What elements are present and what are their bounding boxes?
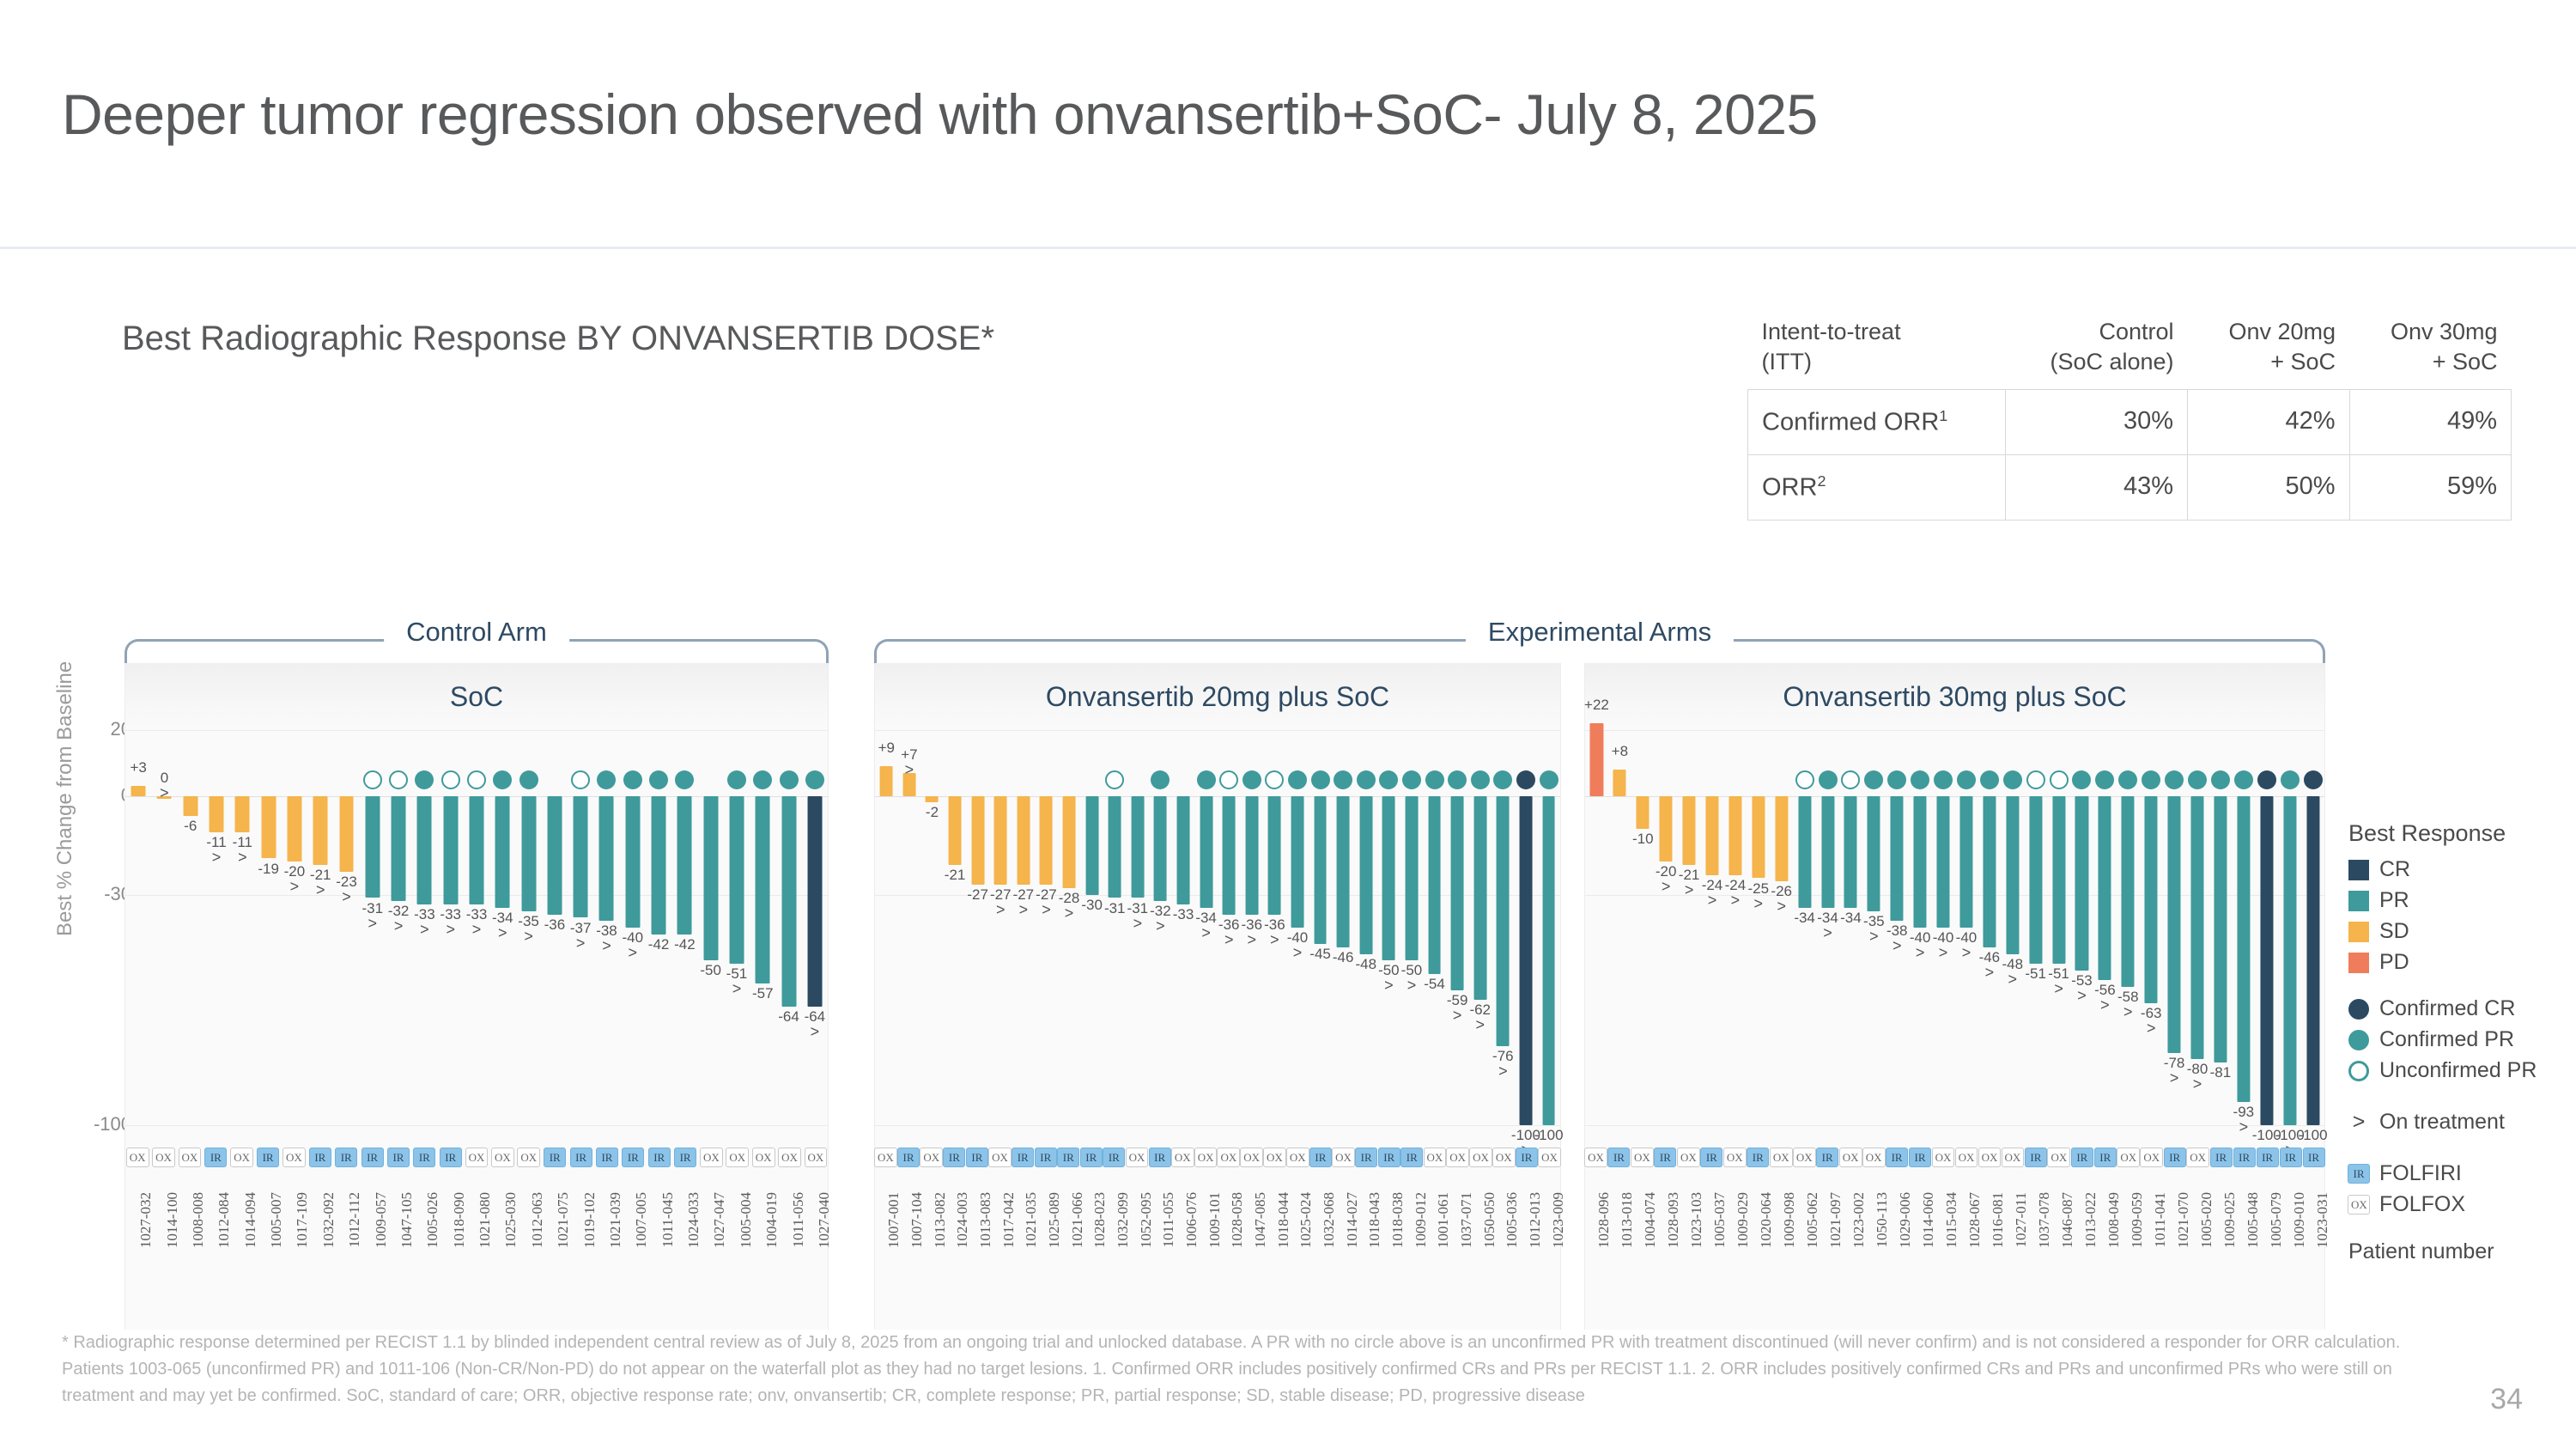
bar-slot[interactable]: -63>	[2140, 730, 2163, 1125]
color-swatch	[2348, 922, 2369, 942]
bar-slot[interactable]: -93>	[2232, 730, 2255, 1125]
bar-value-label: -36>	[1264, 917, 1285, 949]
bar-slot[interactable]: -40>	[1909, 730, 1932, 1125]
bar-slot[interactable]: -33>	[464, 730, 489, 1125]
on-treatment-icon: >	[1702, 892, 1723, 910]
folfox-chip: OX	[805, 1148, 828, 1167]
bar-slot[interactable]: -45	[1309, 730, 1332, 1125]
waterfall-bar[interactable]	[652, 796, 666, 935]
folfiri-chip: IR	[1080, 1148, 1103, 1167]
waterfall-bar[interactable]	[2099, 796, 2111, 981]
waterfall-bar[interactable]	[1154, 796, 1167, 902]
bar-slot[interactable]: -28>	[1058, 730, 1081, 1125]
patient-id-slot: 1023-002	[1839, 1192, 1862, 1321]
bar-slot[interactable]: -59>	[1446, 730, 1469, 1125]
bar-slot[interactable]: -80>	[2186, 730, 2209, 1125]
regimen-slot: IR	[1816, 1148, 1839, 1167]
bar-value-label: -51>	[726, 966, 748, 998]
waterfall-bar[interactable]	[971, 796, 984, 886]
bar-slot[interactable]: -46>	[1978, 730, 2001, 1125]
bar-slot[interactable]: -34>	[1194, 730, 1218, 1125]
bar-slot[interactable]: -31>	[1127, 730, 1150, 1125]
patient-id-slot: 1018-038	[1378, 1192, 1401, 1321]
bar-value-label: -33	[1173, 907, 1194, 922]
folfox-chip: OX	[179, 1148, 202, 1167]
regimen-slot: IR	[2279, 1148, 2302, 1167]
bar-slot[interactable]: -11>	[204, 730, 229, 1125]
bar-slot[interactable]: -50	[698, 730, 724, 1125]
waterfall-bar[interactable]	[1177, 796, 1190, 905]
regimen-slot: OX	[874, 1148, 897, 1167]
bar-slot[interactable]: +22	[1585, 730, 1608, 1125]
waterfall-bar[interactable]	[2145, 796, 2158, 1004]
waterfall-bar[interactable]	[1821, 796, 1834, 908]
waterfall-bar[interactable]	[1775, 796, 1788, 882]
bar-value-label: -34>	[1195, 910, 1217, 942]
waterfall-bar[interactable]	[470, 796, 484, 905]
bar-slot[interactable]: +7>	[898, 730, 921, 1125]
patient-id-slot: 1028-096	[1584, 1192, 1607, 1321]
bar-slot[interactable]: -23>	[333, 730, 359, 1125]
waterfall-bar[interactable]	[1983, 796, 1996, 947]
header-cell-onv30: Onv 30mg + SoC	[2349, 305, 2512, 390]
waterfall-bar[interactable]	[1844, 796, 1857, 908]
waterfall-bar[interactable]	[521, 796, 536, 911]
response-marker-confirmed-pr	[519, 770, 538, 789]
bar-slot[interactable]: -46	[1332, 730, 1355, 1125]
bar-slot[interactable]: -40>	[1932, 730, 1955, 1125]
legend-label: CR	[2379, 857, 2410, 882]
waterfall-bar[interactable]	[1085, 796, 1098, 895]
folfox-chip: OX	[1978, 1148, 2002, 1167]
waterfall-bar[interactable]	[574, 796, 588, 918]
waterfall-bar[interactable]	[1406, 796, 1419, 961]
waterfall-bar[interactable]	[1683, 796, 1696, 866]
regimen-slot: OX	[2047, 1148, 2070, 1167]
bar-slot[interactable]: -58>	[2117, 730, 2140, 1125]
bar-slot[interactable]: -36>	[1241, 730, 1264, 1125]
waterfall-bar[interactable]	[756, 796, 770, 984]
waterfall-bar[interactable]	[1245, 796, 1258, 915]
waterfall-bar[interactable]	[1063, 796, 1076, 888]
bar-slot[interactable]: -50>	[1400, 730, 1424, 1125]
bar-slot[interactable]: -21	[944, 730, 967, 1125]
bar-slot[interactable]: -2	[920, 730, 944, 1125]
bar-slot[interactable]: -21>	[1678, 730, 1701, 1125]
waterfall-bar[interactable]	[1131, 796, 1144, 898]
waterfall-bar[interactable]	[365, 796, 380, 898]
bar-slot[interactable]: -38>	[593, 730, 619, 1125]
bar-slot[interactable]: -33>	[438, 730, 464, 1125]
response-marker-confirmed-pr	[597, 770, 616, 789]
regimen-slot: IR	[1080, 1148, 1103, 1167]
waterfall-bar[interactable]	[1868, 796, 1880, 911]
waterfall-bar[interactable]	[2237, 796, 2250, 1103]
waterfall-bar[interactable]	[1291, 796, 1304, 928]
waterfall-bar[interactable]	[1451, 796, 1464, 990]
waterfall-bar[interactable]	[495, 796, 510, 908]
folfox-chip: OX	[1723, 1148, 1747, 1167]
waterfall-bar[interactable]	[703, 796, 718, 961]
waterfall-bar[interactable]	[1891, 796, 1904, 922]
waterfall-bar[interactable]	[1268, 796, 1281, 915]
bar-slot[interactable]: -24>	[1701, 730, 1724, 1125]
waterfall-bar[interactable]	[235, 796, 250, 832]
bar-slot[interactable]: -40>	[1286, 730, 1309, 1125]
bar-slot[interactable]: -21>	[307, 730, 333, 1125]
waterfall-bar[interactable]	[1959, 796, 1972, 928]
bar-slot[interactable]: -62>	[1468, 730, 1492, 1125]
bar-slot[interactable]: -27>	[1012, 730, 1036, 1125]
bar-slot[interactable]: -27>	[989, 730, 1012, 1125]
table-row: Confirmed ORR1 30% 42% 49%	[1748, 390, 2512, 455]
waterfall-bar[interactable]	[807, 796, 822, 1007]
bar-slot[interactable]: -32>	[1149, 730, 1172, 1125]
bar-slot[interactable]: -81	[2208, 730, 2232, 1125]
bar-slot[interactable]: -56>	[2093, 730, 2117, 1125]
waterfall-bar[interactable]	[949, 796, 962, 866]
marker-swatch	[2348, 999, 2369, 1020]
bar-slot[interactable]: -26>	[1770, 730, 1793, 1125]
waterfall-bar[interactable]	[1497, 796, 1510, 1046]
waterfall-bar[interactable]	[880, 766, 893, 796]
bar-slot[interactable]: -35>	[515, 730, 541, 1125]
waterfall-bar[interactable]	[2122, 796, 2135, 987]
legend-item-unconfirmed-pr: Unconfirmed PR	[2348, 1058, 2563, 1083]
on-treatment-icon: >	[440, 922, 461, 939]
waterfall-bar[interactable]	[1337, 796, 1350, 947]
bar-slot[interactable]: -34	[1839, 730, 1862, 1125]
waterfall-bar[interactable]	[677, 796, 692, 935]
bar-slot[interactable]: -78>	[2163, 730, 2186, 1125]
regimen-slot: IR	[1607, 1148, 1631, 1167]
folfiri-chip: IR	[413, 1148, 435, 1167]
waterfall-bar[interactable]	[1017, 796, 1030, 886]
waterfall-bar[interactable]	[2029, 796, 2042, 965]
folfiri-chip: IR	[2071, 1148, 2093, 1167]
waterfall-bar[interactable]	[1542, 796, 1555, 1125]
legend-label: PD	[2379, 950, 2409, 975]
response-marker-confirmed-pr	[2165, 770, 2184, 789]
on-treatment-icon: >	[2002, 971, 2023, 989]
legend-item-folfox: OXFOLFOX	[2348, 1192, 2563, 1217]
bar-value-label: -64	[778, 1009, 799, 1024]
waterfall-bar[interactable]	[417, 796, 432, 905]
patient-id-slot: 1021-075	[542, 1192, 568, 1321]
bar-slot[interactable]: -64>	[802, 730, 828, 1125]
patient-id-slot: 1005-079	[2256, 1192, 2279, 1321]
waterfall-bar[interactable]	[1314, 796, 1327, 945]
bar-slot[interactable]: -20>	[282, 730, 307, 1125]
regimen-slot: IR	[1654, 1148, 1677, 1167]
waterfall-bar[interactable]	[1473, 796, 1486, 1001]
bar-slot[interactable]: -100	[2255, 730, 2278, 1125]
waterfall-bar[interactable]	[2214, 796, 2227, 1063]
bar-value-label: -20>	[1656, 864, 1677, 896]
waterfall-bar[interactable]	[1798, 796, 1811, 908]
waterfall-bar[interactable]	[131, 786, 146, 796]
response-marker-confirmed-pr	[1379, 770, 1398, 789]
bar-slot[interactable]: -19	[255, 730, 281, 1125]
waterfall-bar[interactable]	[339, 796, 354, 872]
bar-value-label: -46>	[1979, 950, 2001, 982]
waterfall-bar[interactable]	[547, 796, 562, 915]
patient-id-label: 1023-031	[2314, 1192, 2331, 1248]
waterfall-bar[interactable]	[926, 796, 939, 803]
bar-value-label: -30	[1081, 898, 1103, 912]
bar-slot[interactable]: -100>	[1515, 730, 1538, 1125]
bar-slot[interactable]: -36	[542, 730, 568, 1125]
regimen-slot: OX	[1932, 1148, 1955, 1167]
regimen-slot: OX	[281, 1148, 307, 1167]
legend-label: Confirmed CR	[2379, 996, 2515, 1021]
regimen-slot: OX	[1677, 1148, 1700, 1167]
response-marker-confirmed-pr	[1493, 770, 1512, 789]
bar-value-label: -53>	[2071, 973, 2093, 1005]
regimen-slot: IR	[386, 1148, 411, 1167]
patient-id-slot: 1050-113	[1862, 1192, 1886, 1321]
waterfall-bar[interactable]	[1223, 796, 1236, 915]
bar-value-label: -56>	[2094, 983, 2116, 1014]
bar-slot[interactable]: -35>	[1862, 730, 1886, 1125]
arm-group-label-experimental: Experimental Arms	[1466, 617, 1734, 648]
regimen-slot: IR	[2163, 1148, 2186, 1167]
bar-slot[interactable]: 0>	[151, 730, 177, 1125]
response-marker-unconfirmed	[467, 770, 486, 789]
waterfall-bar[interactable]	[1040, 796, 1053, 886]
bar-value-label: -40>	[1933, 930, 1954, 962]
waterfall-bar[interactable]	[1937, 796, 1950, 928]
bar-slot[interactable]: -51	[2024, 730, 2047, 1125]
folfox-chip: OX	[1862, 1148, 1886, 1167]
waterfall-bar[interactable]	[1660, 796, 1673, 862]
bar-slot[interactable]: -33>	[411, 730, 437, 1125]
regimen-slot: OX	[698, 1148, 724, 1167]
waterfall-bar[interactable]	[261, 796, 276, 859]
waterfall-bar[interactable]	[392, 796, 406, 902]
waterfall-bar[interactable]	[1728, 796, 1741, 875]
on-treatment-icon: >	[160, 785, 169, 802]
waterfall-bar[interactable]	[2075, 796, 2088, 971]
waterfall-bar[interactable]	[599, 796, 614, 922]
bar-slot[interactable]: -53>	[2070, 730, 2093, 1125]
bar-slot[interactable]: -34>	[489, 730, 515, 1125]
bar-slot[interactable]: -24>	[1723, 730, 1747, 1125]
color-swatch	[2348, 860, 2369, 880]
panel-title: SoC	[450, 681, 503, 713]
bar-slot[interactable]: -64	[775, 730, 801, 1125]
folfiri-chip: IR	[622, 1148, 644, 1167]
folfox-chip: OX	[1171, 1148, 1194, 1167]
regimen-slot: IR	[2256, 1148, 2279, 1167]
waterfall-bar[interactable]	[287, 796, 301, 862]
bar-slot[interactable]: -31>	[360, 730, 386, 1125]
panel-header: Onvansertib 20mg plus SoC	[875, 663, 1560, 730]
bar-slot[interactable]: -51>	[2047, 730, 2070, 1125]
folfox-chip: OX	[1286, 1148, 1309, 1167]
waterfall-bar[interactable]	[2260, 796, 2273, 1125]
bar-slot[interactable]: -36>	[1263, 730, 1286, 1125]
bar-slot[interactable]: +8	[1608, 730, 1631, 1125]
patient-id-slot: 1007-104	[897, 1192, 920, 1321]
bar-slot[interactable]: -10	[1631, 730, 1655, 1125]
bar-value-label: -38>	[596, 923, 617, 955]
bar-slot[interactable]: -42	[646, 730, 671, 1125]
on-treatment-icon: >	[2141, 1020, 2162, 1038]
bar-slot[interactable]: -36>	[1218, 730, 1241, 1125]
patient-id-slot: 1011-041	[2140, 1192, 2163, 1321]
patient-id-slot: 1020-064	[1747, 1192, 1770, 1321]
waterfall-bar[interactable]	[2190, 796, 2203, 1060]
waterfall-bar[interactable]	[1109, 796, 1121, 898]
waterfall-bar[interactable]	[183, 796, 197, 816]
patient-id-slot: 1028-058	[1218, 1192, 1241, 1321]
waterfall-bar[interactable]	[1200, 796, 1212, 908]
regimen-slot: OX	[1240, 1148, 1263, 1167]
bar-slot[interactable]: -51>	[724, 730, 750, 1125]
on-treatment-icon: >	[233, 849, 252, 867]
patient-id-slot: 1018-090	[438, 1192, 464, 1321]
bar-slot[interactable]: -27	[966, 730, 989, 1125]
folfox-chip: OX	[517, 1148, 540, 1167]
waterfall-bar[interactable]	[625, 796, 640, 928]
bar-slot[interactable]: -40>	[1955, 730, 1978, 1125]
folfox-chip: OX	[1677, 1148, 1700, 1167]
waterfall-bar[interactable]	[1613, 770, 1626, 796]
bar-slot[interactable]: -76>	[1492, 730, 1515, 1125]
bar-slot[interactable]: -32>	[386, 730, 411, 1125]
regimen-chip-wrap: OX	[2348, 1195, 2369, 1215]
waterfall-bar[interactable]	[1637, 796, 1649, 829]
patient-id-slot: 1027-047	[698, 1192, 724, 1321]
folfox-chip: OX	[778, 1148, 801, 1167]
legend-item-cr: CR	[2348, 857, 2563, 882]
waterfall-bar[interactable]	[994, 796, 1007, 886]
bar-slot[interactable]: -27>	[1035, 730, 1058, 1125]
waterfall-bar[interactable]	[2006, 796, 2019, 954]
bar-slot[interactable]: -100>	[2278, 730, 2301, 1125]
waterfall-bar[interactable]	[2052, 796, 2065, 965]
bar-slot[interactable]: -31	[1103, 730, 1127, 1125]
response-marker-unconfirmed	[2026, 770, 2045, 789]
on-treatment-icon: >	[805, 1024, 826, 1041]
bar-slot[interactable]: -42	[671, 730, 697, 1125]
bar-slot[interactable]: -100	[2301, 730, 2324, 1125]
bar-slot[interactable]: -54	[1423, 730, 1446, 1125]
bar-value-label: -27>	[1013, 887, 1035, 919]
bar-value-label: -32>	[388, 904, 410, 935]
waterfall-bar[interactable]	[1914, 796, 1927, 928]
on-treatment-icon: >	[1013, 902, 1035, 919]
bar-slot[interactable]: -57	[750, 730, 775, 1125]
waterfall-bar[interactable]	[1382, 796, 1395, 961]
bar-slot[interactable]: +9	[875, 730, 898, 1125]
patient-id-label: 1023-009	[1550, 1192, 1567, 1248]
bar-slot[interactable]: -25>	[1747, 730, 1770, 1125]
bar-slot[interactable]: -33	[1172, 730, 1195, 1125]
patient-id-slot: 1005-036	[1492, 1192, 1516, 1321]
patient-id-slot: 1008-008	[177, 1192, 203, 1321]
bar-slot[interactable]: -30	[1080, 730, 1103, 1125]
patient-id-slot: 1005-037	[1700, 1192, 1723, 1321]
waterfall-bar[interactable]	[1359, 796, 1372, 954]
waterfall-bar[interactable]	[2168, 796, 2181, 1053]
waterfall-bar[interactable]	[2306, 796, 2319, 1125]
waterfall-bar[interactable]	[443, 796, 458, 905]
bar-slot[interactable]: -48	[1354, 730, 1377, 1125]
bar-slot[interactable]: -48>	[2001, 730, 2024, 1125]
bar-slot[interactable]: -11>	[229, 730, 255, 1125]
folfox-chip: OX	[726, 1148, 749, 1167]
folfiri-chip: IR	[2210, 1148, 2233, 1167]
bar-slot[interactable]: -38>	[1886, 730, 1909, 1125]
waterfall-bar[interactable]	[1590, 723, 1603, 795]
on-treatment-icon: >	[362, 916, 384, 933]
panel-header: SoC	[125, 663, 828, 730]
waterfall-bar[interactable]	[1705, 796, 1718, 875]
bar-slot[interactable]: -40>	[620, 730, 646, 1125]
regimen-slot: IR	[943, 1148, 966, 1167]
response-marker-unconfirmed	[1105, 770, 1124, 789]
waterfall-bar[interactable]	[1519, 796, 1532, 1125]
regimen-slot: IR	[1400, 1148, 1424, 1167]
on-treatment-icon: >	[2071, 988, 2093, 1005]
patient-id-slot: 1005-062	[1793, 1192, 1816, 1321]
page-title: Deeper tumor regression observed with on…	[62, 82, 1818, 147]
legend-item-confirmed-cr: Confirmed CR	[2348, 996, 2563, 1021]
bar-value-label: +7>	[901, 747, 917, 779]
waterfall-bar[interactable]	[1428, 796, 1441, 974]
bar-value-label: +3	[130, 760, 146, 775]
bar-slot[interactable]: -100	[1537, 730, 1560, 1125]
regimen-slot: OX	[1171, 1148, 1194, 1167]
on-treatment-icon: >	[990, 902, 1012, 919]
response-marker-unconfirmed	[363, 770, 382, 789]
regimen-slot: IR	[1355, 1148, 1378, 1167]
patient-id-slot: 1021-066	[1057, 1192, 1080, 1321]
waterfall-bar[interactable]	[2283, 796, 2296, 1125]
response-marker-confirmed-cr	[2304, 770, 2323, 789]
bar-slot[interactable]: -6	[178, 730, 204, 1125]
waterfall-bar[interactable]	[1752, 796, 1765, 879]
bar-slot[interactable]: -50>	[1377, 730, 1400, 1125]
response-marker-confirmed-pr	[1540, 770, 1558, 789]
bar-slot[interactable]: -34	[1793, 730, 1816, 1125]
bar-slot[interactable]: -20>	[1655, 730, 1678, 1125]
patient-id-slot: 1017-109	[281, 1192, 307, 1321]
folfiri-chip: IR	[1309, 1148, 1332, 1167]
folfox-chip: OX	[2002, 1148, 2025, 1167]
waterfall-bar[interactable]	[729, 796, 744, 965]
response-marker-confirmed-pr	[1911, 770, 1929, 789]
waterfall-bar[interactable]	[210, 796, 224, 832]
bar-slot[interactable]: +3	[125, 730, 151, 1125]
waterfall-bar[interactable]	[313, 796, 328, 866]
response-marker-confirmed-pr	[1934, 770, 1953, 789]
bar-slot[interactable]: -34>	[1816, 730, 1839, 1125]
bar-value-label: -38>	[1886, 923, 1908, 955]
bar-slot[interactable]: -37>	[568, 730, 593, 1125]
folfiri-chip: IR	[440, 1148, 462, 1167]
cell-orr-control: 43%	[2006, 454, 2188, 520]
response-marker-confirmed-pr	[1402, 770, 1421, 789]
waterfall-bar[interactable]	[781, 796, 796, 1007]
legend-marker-group: Confirmed CRConfirmed PRUnconfirmed PR	[2348, 996, 2563, 1083]
folfox-chip: OX	[126, 1148, 149, 1167]
patient-id-slot: 1009-059	[2117, 1192, 2140, 1321]
patient-id-slot: 1047-085	[1241, 1192, 1264, 1321]
patient-id-slot: 1025-024	[1286, 1192, 1309, 1321]
